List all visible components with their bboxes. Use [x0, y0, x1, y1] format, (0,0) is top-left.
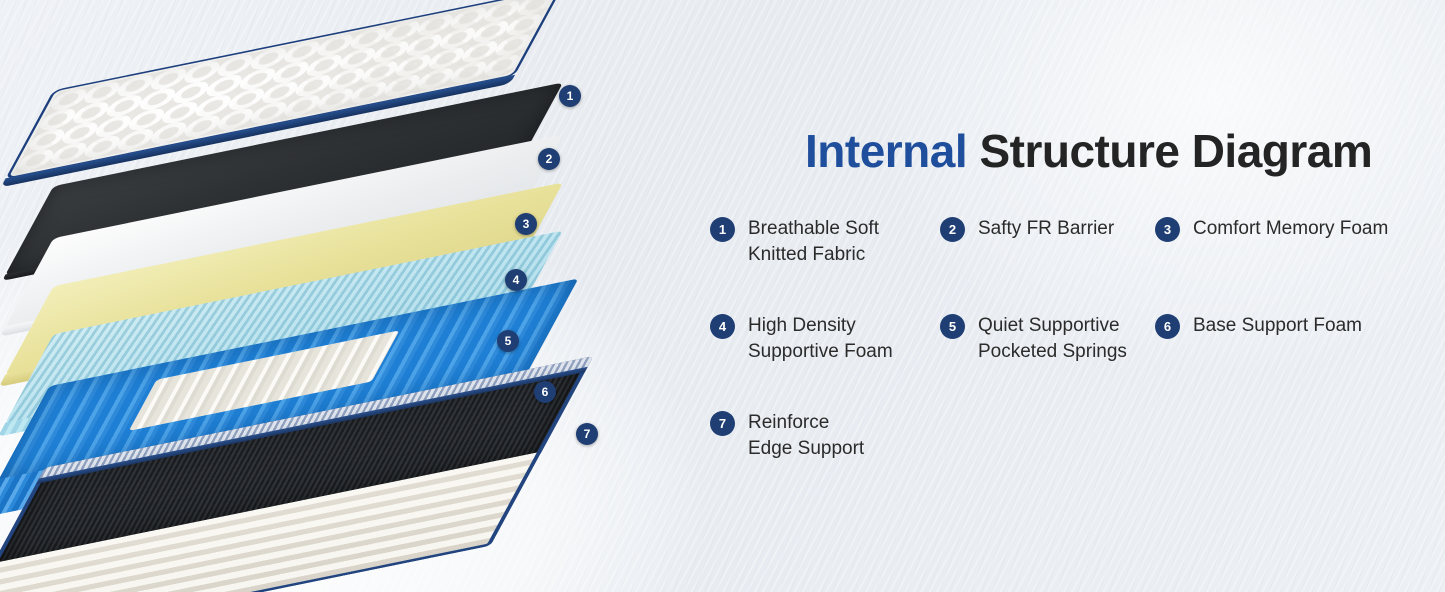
- legend-badge-7: 7: [710, 411, 735, 436]
- legend-badge-4: 4: [710, 314, 735, 339]
- callout-badge-3: 3: [515, 213, 537, 235]
- text-panel: Internal Structure Diagram 1 Breathable …: [700, 0, 1445, 592]
- infographic-page: 1 2 3 4 5 6 7 Internal Structure Diagram…: [0, 0, 1445, 592]
- legend-item-6: 6 Base Support Foam: [1155, 313, 1362, 339]
- callout-badge-6: 6: [534, 381, 556, 403]
- legend-badge-2: 2: [940, 217, 965, 242]
- legend-item-7: 7 Reinforce Edge Support: [710, 410, 864, 462]
- legend-label-2: Safty FR Barrier: [978, 216, 1114, 242]
- legend-badge-5: 5: [940, 314, 965, 339]
- legend-item-5: 5 Quiet Supportive Pocketed Springs: [940, 313, 1127, 365]
- legend-label-6: Base Support Foam: [1193, 313, 1362, 339]
- legend-badge-3: 3: [1155, 217, 1180, 242]
- mattress-exploded-diagram: 1 2 3 4 5 6 7: [0, 0, 680, 592]
- page-title: Internal Structure Diagram: [805, 124, 1372, 178]
- callout-badge-2: 2: [538, 148, 560, 170]
- legend-item-2: 2 Safty FR Barrier: [940, 216, 1114, 242]
- legend-item-4: 4 High Density Supportive Foam: [710, 313, 893, 365]
- callout-badge-5: 5: [497, 330, 519, 352]
- legend-label-4: High Density Supportive Foam: [748, 313, 893, 365]
- title-word-dark: Structure Diagram: [979, 125, 1372, 177]
- callout-badge-1: 1: [559, 85, 581, 107]
- legend-label-1: Breathable Soft Knitted Fabric: [748, 216, 879, 268]
- legend-label-5: Quiet Supportive Pocketed Springs: [978, 313, 1127, 365]
- title-word-blue: Internal: [805, 125, 967, 177]
- callout-badge-4: 4: [505, 269, 527, 291]
- legend-badge-1: 1: [710, 217, 735, 242]
- callout-badge-7: 7: [576, 423, 598, 445]
- legend-item-1: 1 Breathable Soft Knitted Fabric: [710, 216, 879, 268]
- legend-label-7: Reinforce Edge Support: [748, 410, 864, 462]
- legend-item-3: 3 Comfort Memory Foam: [1155, 216, 1388, 242]
- legend-badge-6: 6: [1155, 314, 1180, 339]
- legend-label-3: Comfort Memory Foam: [1193, 216, 1388, 242]
